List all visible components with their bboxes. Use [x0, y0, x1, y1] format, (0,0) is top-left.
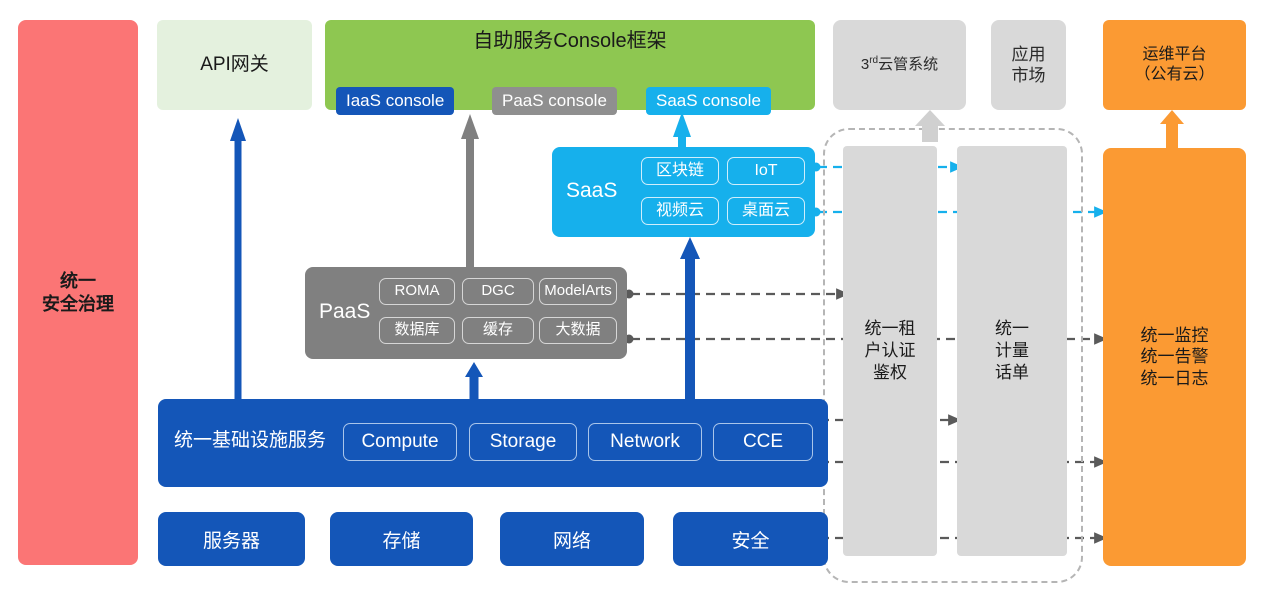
- hardware-box-storage[interactable]: 存储: [330, 512, 473, 566]
- paas-chip-database[interactable]: 数据库: [379, 317, 455, 344]
- saas-console-chip[interactable]: SaaS console: [646, 87, 771, 115]
- iaas-console-chip[interactable]: IaaS console: [336, 87, 454, 115]
- console-framework-box: 自助服务Console框架 IaaS console PaaS console …: [325, 20, 815, 110]
- paas-chip-cache[interactable]: 缓存: [462, 317, 534, 344]
- third-party-cloud-label: 3rd云管系统: [861, 55, 938, 75]
- paas-label: PaaS: [319, 299, 370, 325]
- paas-console-chip[interactable]: PaaS console: [492, 87, 617, 115]
- paas-chip-modelarts[interactable]: ModelArts: [539, 278, 617, 305]
- arrow-infra-to-paas: [465, 362, 483, 399]
- monitoring-line2: 统一告警: [1141, 346, 1209, 367]
- arrow-infra-to-saas: [680, 237, 700, 399]
- architecture-diagram: 统一 安全治理 API网关 自助服务Console框架 IaaS console…: [0, 0, 1265, 605]
- saas-chip-iot[interactable]: IoT: [727, 157, 805, 185]
- auth-line1: 统一租: [865, 318, 916, 340]
- auth-line3: 鉴权: [865, 362, 916, 384]
- security-governance-line2: 安全治理: [42, 293, 114, 316]
- arrow-saas-to-console: [673, 112, 691, 147]
- app-market-line2: 市场: [1012, 65, 1046, 86]
- infrastructure-bar: 统一基础设施服务 Compute Storage Network CCE: [158, 399, 828, 487]
- monitoring-panel: 统一监控 统一告警 统一日志: [1103, 148, 1246, 566]
- arrow-monitor-to-ops: [1160, 110, 1184, 148]
- api-gateway-box: API网关: [157, 20, 312, 110]
- monitoring-line3: 统一日志: [1141, 368, 1209, 389]
- hardware-box-security[interactable]: 安全: [673, 512, 828, 566]
- paas-chip-dgc[interactable]: DGC: [462, 278, 534, 305]
- arrow-infra-to-api-gateway: [230, 118, 246, 399]
- unified-metering-column: 统一 计量 话单: [957, 146, 1067, 556]
- auth-line2: 户认证: [865, 340, 916, 362]
- monitoring-line1: 统一监控: [1141, 325, 1209, 346]
- saas-block: SaaS 区块链 IoT 视频云 桌面云: [552, 147, 815, 237]
- paas-chip-bigdata[interactable]: 大数据: [539, 317, 617, 344]
- saas-chip-desktop-cloud[interactable]: 桌面云: [727, 197, 805, 225]
- infra-chip-compute[interactable]: Compute: [343, 423, 457, 461]
- metering-line1: 统一: [995, 318, 1029, 340]
- security-governance-line1: 统一: [42, 270, 114, 293]
- saas-label: SaaS: [566, 178, 617, 204]
- ops-platform-line2: （公有云）: [1134, 65, 1214, 85]
- hardware-box-server[interactable]: 服务器: [158, 512, 305, 566]
- infra-chip-cce[interactable]: CCE: [713, 423, 813, 461]
- api-gateway-label: API网关: [200, 53, 269, 77]
- saas-chip-blockchain[interactable]: 区块链: [641, 157, 719, 185]
- infrastructure-label: 统一基础设施服务: [174, 429, 326, 453]
- paas-chip-roma[interactable]: ROMA: [379, 278, 455, 305]
- metering-line3: 话单: [995, 362, 1029, 384]
- infra-chip-storage[interactable]: Storage: [469, 423, 577, 461]
- third-party-superscript: rd: [869, 55, 878, 66]
- infra-chip-network[interactable]: Network: [588, 423, 702, 461]
- dashed-arrow-paas-to-auth: [625, 290, 849, 299]
- hardware-box-network[interactable]: 网络: [500, 512, 644, 566]
- third-party-cloud-mgmt-box: 3rd云管系统: [833, 20, 966, 110]
- security-governance-panel: 统一 安全治理: [18, 20, 138, 565]
- app-market-box: 应用 市场: [991, 20, 1066, 110]
- ops-platform-line1: 运维平台: [1134, 45, 1214, 65]
- saas-chip-video-cloud[interactable]: 视频云: [641, 197, 719, 225]
- console-framework-title: 自助服务Console框架: [325, 29, 815, 54]
- app-market-line1: 应用: [1012, 44, 1046, 65]
- third-party-suffix: 云管系统: [878, 56, 938, 73]
- ops-platform-box: 运维平台 （公有云）: [1103, 20, 1246, 110]
- unified-tenant-auth-column: 统一租 户认证 鉴权: [843, 146, 937, 556]
- metering-line2: 计量: [995, 340, 1029, 362]
- third-party-prefix: 3: [861, 56, 869, 73]
- paas-block: PaaS ROMA DGC ModelArts 数据库 缓存 大数据: [305, 267, 627, 359]
- arrow-paas-to-console: [461, 114, 479, 267]
